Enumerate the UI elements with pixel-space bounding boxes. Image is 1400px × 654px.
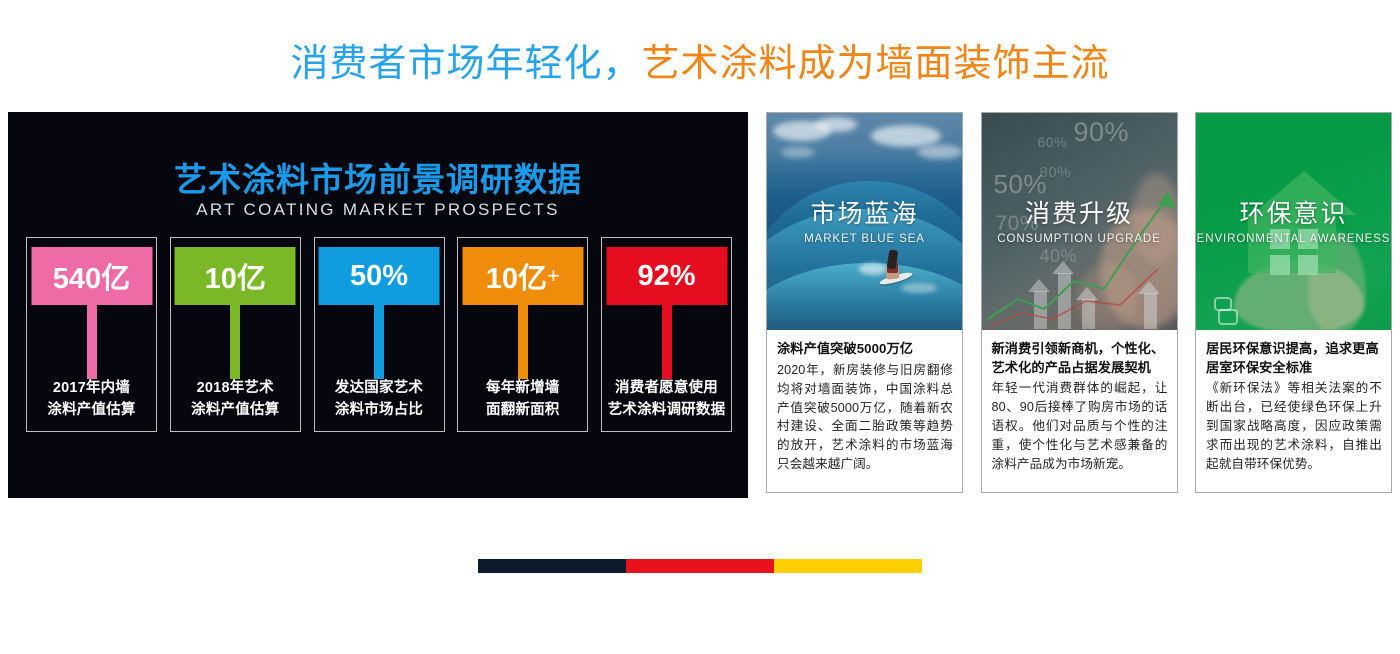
media-title-en: MARKET BLUE SEA bbox=[767, 233, 962, 245]
media-caption: 市场蓝海 MARKET BLUE SEA bbox=[767, 201, 962, 245]
stat-cards-row: 540亿 2017年内墙 涂料产值估算 10亿 2018年艺术 涂料产值估算 5… bbox=[26, 237, 732, 432]
stat-sign: 92% bbox=[606, 247, 727, 305]
infographic-heading-cn: 艺术涂料市场前景调研数据 bbox=[8, 153, 748, 201]
stat-label-line2: 涂料产值估算 bbox=[175, 399, 296, 421]
stat-value: 50% bbox=[350, 260, 408, 293]
feature-body: 新消费引领新商机，个性化、艺术化的产品占据发展契机 年轻一代消费群体的崛起，让8… bbox=[982, 330, 1177, 492]
stat-card[interactable]: 10亿 2018年艺术 涂料产值估算 bbox=[170, 237, 301, 432]
footer-bar-segment-red bbox=[626, 559, 774, 573]
footer-color-bar bbox=[478, 559, 922, 573]
media-title-cn: 环保意识 bbox=[1196, 201, 1391, 229]
page-title-blue-part: 消费者市场年轻化， bbox=[290, 43, 641, 85]
stat-value: 540亿 bbox=[53, 255, 130, 297]
feature-text: 年轻一代消费群体的崛起，让80、90后接棒了购房市场的话语权。他们对品质与个性的… bbox=[992, 379, 1168, 473]
infographic-heading-en: ART COATING MARKET PROSPECTS bbox=[8, 200, 748, 220]
stat-label-line2: 面翻新面积 bbox=[462, 399, 583, 421]
stat-stem bbox=[87, 304, 97, 379]
feature-body: 涂料产值突破5000万亿 2020年，新房装修与旧房翻修均将对墙面装饰，中国涂料… bbox=[767, 330, 962, 492]
eco-house-image: 环保意识 ENVIRONMENTAL AWARENESS bbox=[1196, 113, 1391, 330]
stat-card[interactable]: 92% 消费者愿意使用 艺术涂料调研数据 bbox=[601, 237, 732, 432]
media-title-cn: 消费升级 bbox=[982, 201, 1177, 229]
footer-bar-segment-navy bbox=[478, 559, 626, 573]
stat-stem bbox=[518, 304, 528, 379]
feature-heading: 居民环保意识提高，追求更高居室环保安全标准 bbox=[1206, 340, 1382, 377]
feature-heading: 涂料产值突破5000万亿 bbox=[777, 340, 953, 359]
page-title-orange-part: 艺术涂料成为墙面装饰主流 bbox=[642, 43, 1110, 85]
stat-card[interactable]: 540亿 2017年内墙 涂料产值估算 bbox=[26, 237, 157, 432]
stat-label-line2: 艺术涂料调研数据 bbox=[606, 399, 727, 421]
feature-cards: 市场蓝海 MARKET BLUE SEA 涂料产值突破5000万亿 2020年，… bbox=[766, 112, 1392, 493]
stat-stem bbox=[374, 304, 384, 379]
stat-card[interactable]: 50% 发达国家艺术 涂料市场占比 bbox=[314, 237, 445, 432]
stat-label: 2017年内墙 涂料产值估算 bbox=[31, 377, 152, 422]
growth-chart-image: 90% 60% 50% 80% 70% 40% 消费升级 CONSUMPTION… bbox=[982, 113, 1177, 330]
stat-sign: 10亿+ bbox=[462, 247, 583, 305]
stat-label-line1: 2017年内墙 bbox=[31, 377, 152, 399]
stat-label-line1: 2018年艺术 bbox=[175, 377, 296, 399]
stat-sign: 540亿 bbox=[31, 247, 152, 305]
page-title: 消费者市场年轻化，艺术涂料成为墙面装饰主流 bbox=[0, 32, 1400, 87]
stat-label-line1: 发达国家艺术 bbox=[319, 377, 440, 399]
feature-body: 居民环保意识提高，追求更高居室环保安全标准 《新环保法》等相关法案的不断出台，已… bbox=[1196, 330, 1391, 492]
feature-text: 2020年，新房装修与旧房翻修均将对墙面装饰，中国涂料总产值突破5000万亿，随… bbox=[777, 361, 953, 474]
infographic-panel: 艺术涂料市场前景调研数据 ART COATING MARKET PROSPECT… bbox=[8, 112, 748, 498]
ocean-surfer-image: 市场蓝海 MARKET BLUE SEA bbox=[767, 113, 962, 330]
stat-label-line1: 消费者愿意使用 bbox=[606, 377, 727, 399]
footer-bar-segment-yellow bbox=[774, 559, 922, 573]
stat-label: 2018年艺术 涂料产值估算 bbox=[175, 377, 296, 422]
feature-card-consumption-upgrade[interactable]: 90% 60% 50% 80% 70% 40% 消费升级 CONSUMPTION… bbox=[981, 112, 1178, 493]
feature-heading: 新消费引领新商机，个性化、艺术化的产品占据发展契机 bbox=[992, 340, 1168, 377]
chain-link-icon bbox=[1218, 309, 1238, 325]
media-title-cn: 市场蓝海 bbox=[767, 201, 962, 229]
stat-value: 92% bbox=[637, 260, 695, 293]
media-caption: 消费升级 CONSUMPTION UPGRADE bbox=[982, 201, 1177, 245]
stat-value-suffix: + bbox=[547, 263, 560, 289]
stat-label: 发达国家艺术 涂料市场占比 bbox=[319, 377, 440, 422]
stat-card[interactable]: 10亿+ 每年新增墙 面翻新面积 bbox=[457, 237, 588, 432]
stat-label: 每年新增墙 面翻新面积 bbox=[462, 377, 583, 422]
stat-sign: 50% bbox=[319, 247, 440, 305]
feature-card-environmental-awareness[interactable]: 环保意识 ENVIRONMENTAL AWARENESS 居民环保意识提高，追求… bbox=[1195, 112, 1392, 493]
stat-value: 10亿 bbox=[486, 255, 547, 297]
stat-label: 消费者愿意使用 艺术涂料调研数据 bbox=[606, 377, 727, 422]
stat-stem bbox=[230, 304, 240, 379]
feature-card-market-blue-sea[interactable]: 市场蓝海 MARKET BLUE SEA 涂料产值突破5000万亿 2020年，… bbox=[766, 112, 963, 493]
stat-stem bbox=[662, 304, 672, 379]
stat-sign: 10亿 bbox=[175, 247, 296, 305]
stat-label-line2: 涂料产值估算 bbox=[31, 399, 152, 421]
stat-value: 10亿 bbox=[205, 255, 266, 297]
stat-label-line2: 涂料市场占比 bbox=[319, 399, 440, 421]
media-title-en: ENVIRONMENTAL AWARENESS bbox=[1196, 233, 1391, 245]
media-caption: 环保意识 ENVIRONMENTAL AWARENESS bbox=[1196, 201, 1391, 245]
feature-text: 《新环保法》等相关法案的不断出台，已经使绿色环保上升到国家战略高度，因应政策需求… bbox=[1206, 379, 1382, 473]
media-title-en: CONSUMPTION UPGRADE bbox=[982, 233, 1177, 245]
stat-label-line1: 每年新增墙 bbox=[462, 377, 583, 399]
